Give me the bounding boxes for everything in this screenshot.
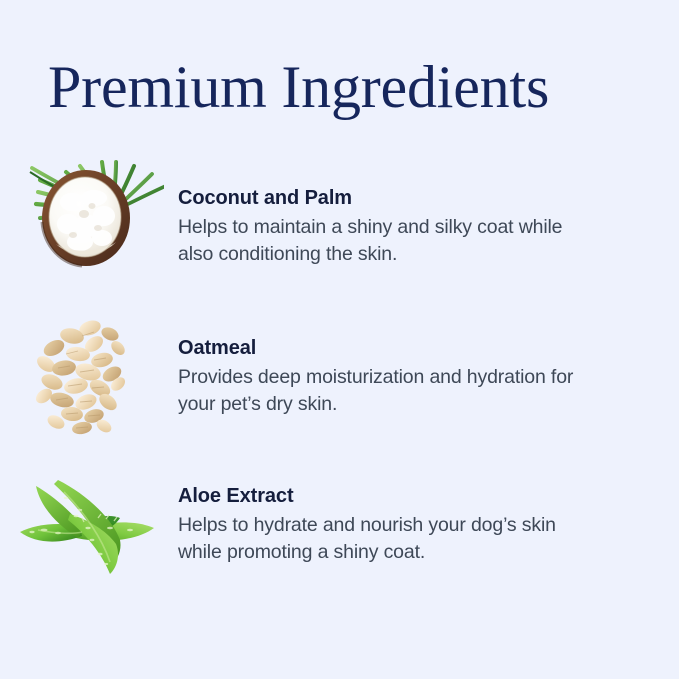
ingredient-row-oatmeal: Oatmeal Provides deep moisturization and… — [0, 310, 679, 450]
aloe-leaves-illustration — [14, 462, 164, 597]
ingredient-copy-oatmeal: Oatmeal Provides deep moisturization and… — [178, 336, 598, 418]
ingredient-description: Helps to maintain a shiny and silky coat… — [178, 214, 598, 268]
ingredient-row-aloe: Aloe Extract Helps to hydrate and nouris… — [0, 462, 679, 602]
ingredient-description: Provides deep moisturization and hydrati… — [178, 364, 598, 418]
ingredient-name: Aloe Extract — [178, 484, 598, 509]
ingredient-copy-coconut: Coconut and Palm Helps to maintain a shi… — [178, 186, 598, 268]
ingredient-copy-aloe: Aloe Extract Helps to hydrate and nouris… — [178, 484, 598, 566]
ingredient-row-coconut: Coconut and Palm Helps to maintain a shi… — [0, 150, 679, 290]
ingredient-name: Oatmeal — [178, 336, 598, 361]
oatmeal-flakes-illustration — [14, 310, 164, 445]
page-title: Premium Ingredients — [48, 54, 549, 120]
premium-ingredients-panel: Premium Ingredients — [0, 0, 679, 679]
ingredient-name: Coconut and Palm — [178, 186, 598, 211]
coconut-and-palm-illustration — [14, 150, 164, 285]
ingredient-description: Helps to hydrate and nourish your dog’s … — [178, 512, 598, 566]
